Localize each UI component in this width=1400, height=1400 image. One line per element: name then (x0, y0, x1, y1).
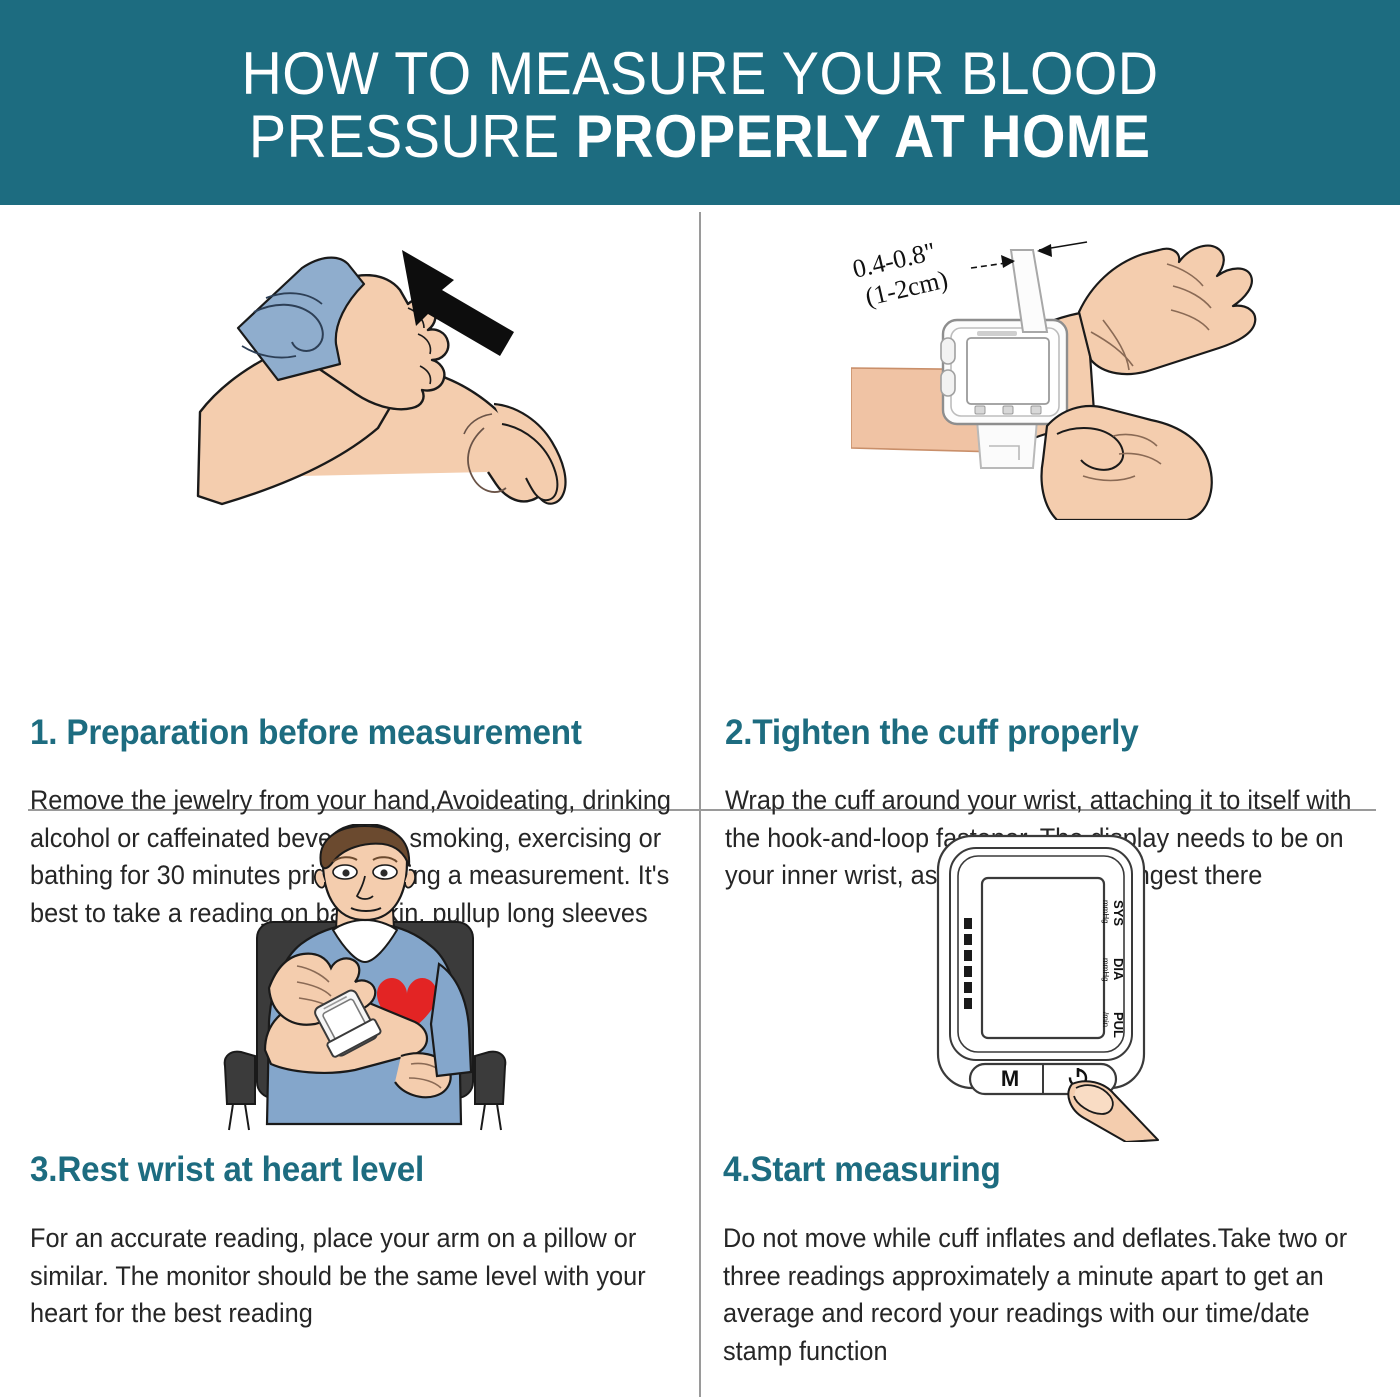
svg-text:DIA: DIA (1111, 958, 1126, 981)
illustration-heart-level (205, 824, 525, 1139)
step-1-heading: 1. Preparation before measurement (30, 713, 582, 753)
step-4-body: Do not move while cuff inflates and defl… (723, 1220, 1374, 1371)
illustration-preparation (196, 228, 596, 523)
step-4-heading: 4.Start measuring (723, 1150, 1001, 1190)
header-title-bold: PROPERLY AT HOME (576, 103, 1151, 170)
step-panel-2: 0.4-0.8" (1-2cm) 2.Tighten the cuff prop… (701, 210, 1400, 810)
infographic-page: HOW TO MEASURE YOUR BLOOD PRESSURE PROPE… (0, 0, 1400, 1400)
page-header: HOW TO MEASURE YOUR BLOOD PRESSURE PROPE… (0, 0, 1400, 205)
svg-text:mmHg: mmHg (1101, 958, 1110, 982)
label-dia: DIA mmHg (1101, 958, 1126, 982)
illustration-start-measuring: SYS mmHg DIA mmHg PUL /min M (896, 822, 1216, 1147)
svg-text:PUL: PUL (1111, 1012, 1126, 1038)
step-panel-3: 3.Rest wrist at heart level For an accur… (0, 812, 699, 1400)
step-panel-4: SYS mmHg DIA mmHg PUL /min M (701, 812, 1400, 1400)
step-2-heading: 2.Tighten the cuff properly (725, 713, 1139, 753)
step-3-body: For an accurate reading, place your arm … (30, 1220, 670, 1333)
header-title-regular: PRESSURE (249, 103, 576, 170)
header-title-line1: HOW TO MEASURE YOUR BLOOD (241, 43, 1158, 105)
illustration-tighten-cuff: 0.4-0.8" (1-2cm) (851, 220, 1291, 525)
svg-text:mmHg: mmHg (1101, 900, 1110, 924)
header-title-line2: PRESSURE PROPERLY AT HOME (249, 106, 1151, 168)
memory-button-label: M (1001, 1066, 1019, 1091)
step-3-heading: 3.Rest wrist at heart level (30, 1150, 424, 1190)
svg-text:SYS: SYS (1111, 900, 1126, 926)
svg-text:/min: /min (1101, 1012, 1110, 1027)
step-panel-1: 1. Preparation before measurement Remove… (0, 210, 699, 810)
label-sys: SYS mmHg (1101, 900, 1126, 926)
